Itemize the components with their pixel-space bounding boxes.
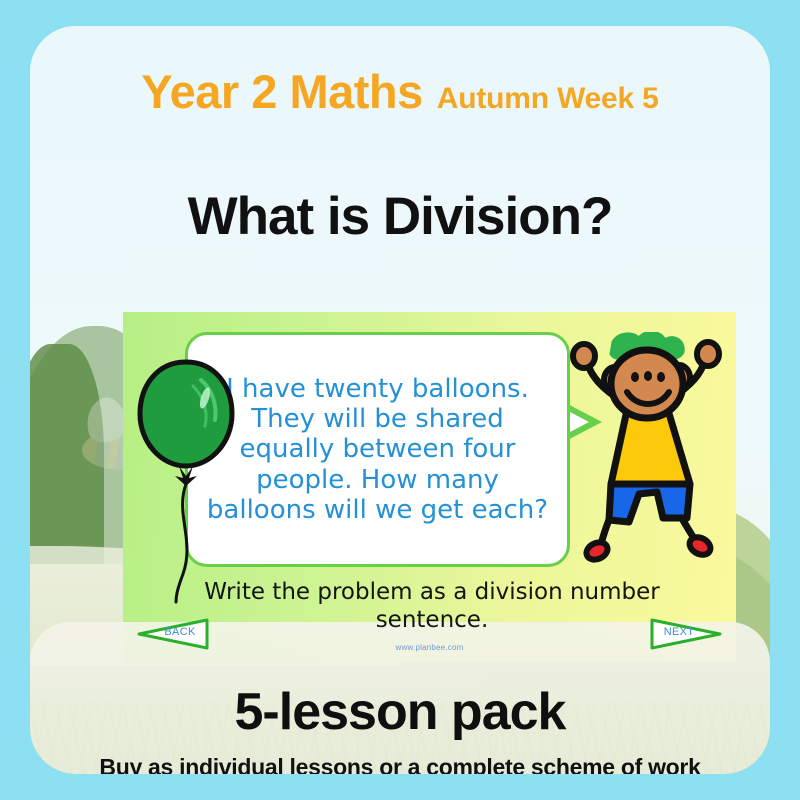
header-course-label: Year 2 Maths xyxy=(141,64,422,119)
header-term-label: Autumn Week 5 xyxy=(437,82,659,116)
back-button-label: BACK xyxy=(149,626,211,638)
promo-card: Year 2 Maths Autumn Week 5 What is Divis… xyxy=(30,26,770,774)
slide-instruction-text: Write the problem as a division number s… xyxy=(183,578,681,634)
next-button-label: NEXT xyxy=(648,626,710,638)
back-button[interactable]: BACK xyxy=(137,618,211,650)
balloon-icon xyxy=(131,354,241,604)
lesson-slide-preview[interactable]: I have twenty balloons. They will be sha… xyxy=(123,312,736,662)
speech-bubble-text: I have twenty balloons. They will be sha… xyxy=(207,374,548,525)
page-title: What is Division? xyxy=(30,186,770,247)
promo-image-root: Year 2 Maths Autumn Week 5 What is Divis… xyxy=(0,0,800,800)
header: Year 2 Maths Autumn Week 5 xyxy=(30,64,770,119)
child-character-icon xyxy=(553,332,736,577)
watermark-text: www.planbee.com xyxy=(123,643,736,652)
speech-bubble: I have twenty balloons. They will be sha… xyxy=(185,332,570,567)
pack-title: 5-lesson pack xyxy=(30,682,770,742)
pack-subtitle: Buy as individual lessons or a complete … xyxy=(30,754,770,774)
next-button[interactable]: NEXT xyxy=(648,618,722,650)
